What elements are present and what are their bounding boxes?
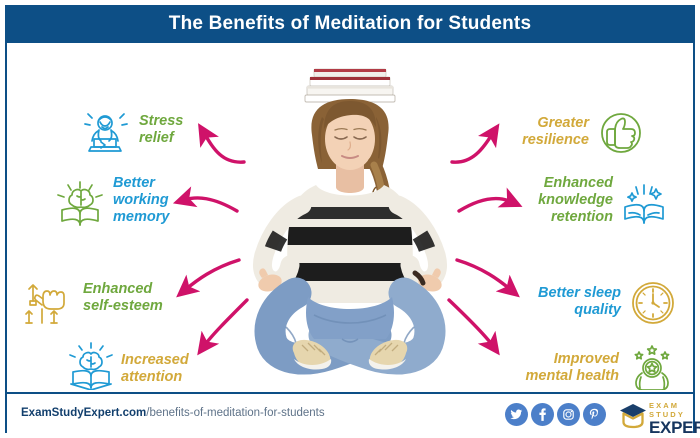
content-canvas: Stress relief Better working memory	[7, 45, 693, 390]
benefit-label: Better working memory	[113, 175, 218, 226]
wall-clock-icon	[627, 277, 679, 334]
brand-logo[interactable]: EXAM STUDY EXPERT	[619, 400, 695, 432]
benefit-self-esteem: Enhanced self-esteem	[21, 273, 201, 333]
arrow-mental-health	[449, 300, 493, 346]
benefit-knowledge-retention: Enhanced knowledge retention	[501, 175, 671, 245]
footer-url-path: /benefits-of-meditation-for-students	[146, 407, 324, 419]
arrow-greater-resilience	[452, 133, 493, 162]
benefit-better-sleep: Better sleep quality	[511, 277, 686, 337]
arrow-increased-attention	[204, 300, 247, 346]
arrow-better-sleep	[457, 260, 511, 290]
brand-line-exam-study: EXAM STUDY	[649, 401, 700, 419]
benefit-label: Enhanced self-esteem	[83, 281, 203, 315]
benefit-label: Increased attention	[121, 352, 239, 386]
facebook-icon[interactable]	[531, 403, 554, 426]
twitter-icon[interactable]	[505, 403, 528, 426]
benefit-greater-resilience: Greater resilience	[497, 107, 657, 167]
sparkling-book-icon	[619, 181, 669, 236]
benefit-increased-attention: Increased attention	[65, 341, 240, 390]
raised-fist-arrows-icon	[21, 277, 73, 332]
benefit-label: Enhanced knowledge retention	[501, 175, 613, 226]
hands-star-medal-icon	[627, 343, 677, 390]
page-title: The Benefits of Meditation for Students	[169, 13, 531, 35]
instagram-icon[interactable]	[557, 403, 580, 426]
brand-wordmark: EXAM STUDY EXPERT	[649, 401, 700, 437]
stressed-student-laptop-icon	[79, 109, 131, 166]
benefit-label: Better sleep quality	[511, 285, 621, 319]
footer-bar: ExamStudyExpert.com/benefits-of-meditati…	[7, 392, 693, 436]
graduation-cap-icon	[619, 403, 647, 434]
header-bar: The Benefits of Meditation for Students	[5, 5, 695, 43]
footer-url[interactable]: ExamStudyExpert.com/benefits-of-meditati…	[21, 407, 325, 419]
benefit-mental-health: Improved mental health	[487, 343, 677, 390]
benefit-label: Stress relief	[139, 113, 219, 147]
thumbs-up-circle-icon	[595, 107, 647, 164]
benefit-stress-relief: Stress relief	[79, 107, 219, 167]
brain-book-icon	[55, 179, 105, 234]
benefit-label: Improved mental health	[487, 351, 619, 385]
pinterest-icon[interactable]	[583, 403, 606, 426]
benefit-working-memory: Better working memory	[55, 175, 220, 245]
benefit-label: Greater resilience	[497, 115, 589, 149]
footer-url-domain: ExamStudyExpert.com	[21, 407, 146, 419]
brand-line-expert: EXPERT	[649, 419, 700, 437]
social-links	[505, 403, 606, 426]
infographic-poster: The Benefits of Meditation for Students	[0, 0, 700, 438]
meditating-student-photo	[250, 57, 450, 387]
brain-open-book-icon	[65, 341, 117, 390]
